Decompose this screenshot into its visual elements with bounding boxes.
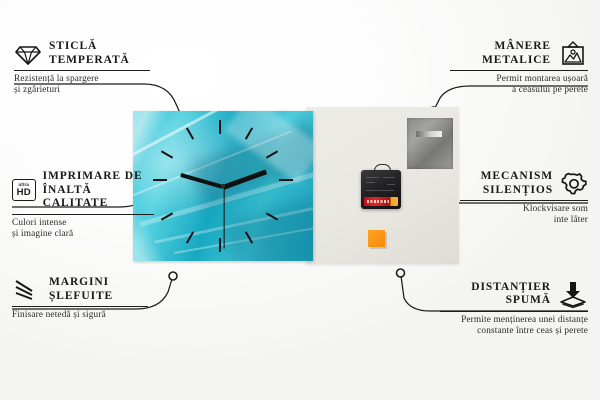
feature-divider <box>12 214 154 215</box>
feature-polished-edges: MARGINI ȘLEFUITE Finisare netedă și sigu… <box>12 276 148 321</box>
hanger-slot <box>416 131 442 137</box>
artwork-shadow <box>223 195 313 261</box>
feature-subtitle-line1: Culori intense <box>12 218 154 229</box>
feature-header: STICLĂ TEMPERATĂ <box>14 40 150 67</box>
clock-mechanism <box>361 170 401 209</box>
feature-foam-spacer: DISTANȚIER SPUMĂ Permite menținerea unei… <box>440 280 588 338</box>
battery-label <box>367 200 389 203</box>
feature-subtitle-line1: Rezistență la spargere <box>14 74 150 85</box>
feature-subtitle-line2: și imagine clară <box>12 229 154 240</box>
feature-subtitle-line2: inte låter <box>460 215 588 226</box>
feature-metal-handles: MÂNERE METALICE Permit montarea ușoară a… <box>450 40 588 97</box>
leader-dot-polished-edges <box>169 272 177 280</box>
feature-subtitle-line1: Klockvisare som <box>460 204 588 215</box>
feature-subtitle-line1: Permite menținerea unei distanțe <box>440 315 588 326</box>
feature-subtitle-line2: constante între ceas și perete <box>440 326 588 337</box>
feature-subtitle-line2: și zgârieturi <box>14 85 150 96</box>
feature-header: DISTANȚIER SPUMĂ <box>440 280 588 308</box>
feature-tempered-glass: STICLĂ TEMPERATĂ Rezistență la spargere … <box>14 40 150 97</box>
mechanism-detail <box>366 190 394 191</box>
diamond-icon <box>14 42 42 66</box>
down-arrow-pad-icon <box>558 280 588 308</box>
polished-edges-icon <box>12 278 42 302</box>
feature-divider <box>440 311 588 312</box>
feature-subtitle-line1: Finisare netedă și sigură <box>12 310 148 321</box>
hour-marker <box>153 179 167 181</box>
feature-title: MECANISM SILENȚIOS <box>481 170 553 197</box>
battery <box>364 197 398 206</box>
mechanism-detail <box>387 184 395 185</box>
feature-title: MÂNERE METALICE <box>482 40 551 67</box>
ultra-hd-badge-icon: ultra HD <box>12 179 36 201</box>
hd-badge-main-label: HD <box>17 188 31 198</box>
feature-hd-print: ultra HD IMPRIMARE DE ÎNALTĂ CALITATE Cu… <box>12 170 154 240</box>
feature-divider <box>14 70 150 71</box>
feature-silent-mechanism: MECANISM SILENȚIOS Klockvisare som inte … <box>460 170 588 227</box>
feature-header: MARGINI ȘLEFUITE <box>12 276 148 303</box>
product-image <box>133 107 459 264</box>
hour-marker <box>186 127 194 139</box>
leader-dot-foam-spacer <box>397 269 405 277</box>
mechanism-hanging-loop <box>374 164 391 174</box>
picture-frame-hanging-icon <box>558 41 588 67</box>
feature-divider <box>12 306 148 307</box>
feature-header: ultra HD IMPRIMARE DE ÎNALTĂ CALITATE <box>12 170 154 211</box>
feature-title: MARGINI ȘLEFUITE <box>49 276 113 303</box>
feature-divider <box>460 200 588 201</box>
hour-marker <box>219 120 221 134</box>
mechanism-detail <box>366 177 379 178</box>
foam-spacer-pad <box>368 230 385 247</box>
hour-marker <box>219 238 221 252</box>
mechanism-detail <box>383 177 395 178</box>
clock-center-cap <box>221 184 225 188</box>
hour-marker <box>279 179 293 181</box>
hour-marker <box>161 150 173 158</box>
feature-title: STICLĂ TEMPERATĂ <box>49 40 130 67</box>
feature-subtitle-line1: Permit montarea ușoară <box>450 74 588 85</box>
infographic-canvas: STICLĂ TEMPERATĂ Rezistență la spargere … <box>0 0 600 400</box>
mechanism-detail <box>366 182 375 183</box>
feature-title: DISTANȚIER SPUMĂ <box>471 281 551 308</box>
second-hand <box>223 186 224 248</box>
metal-hanger-plate <box>407 118 453 169</box>
feature-divider <box>450 70 588 71</box>
feature-header: MÂNERE METALICE <box>450 40 588 67</box>
clock-back-panel <box>306 107 459 264</box>
gear-icon <box>560 171 588 197</box>
feature-title: IMPRIMARE DE ÎNALTĂ CALITATE <box>43 170 154 211</box>
wall-clock-face <box>133 111 313 261</box>
feature-subtitle-line2: a ceasului pe perete <box>450 85 588 96</box>
feature-header: MECANISM SILENȚIOS <box>460 170 588 197</box>
